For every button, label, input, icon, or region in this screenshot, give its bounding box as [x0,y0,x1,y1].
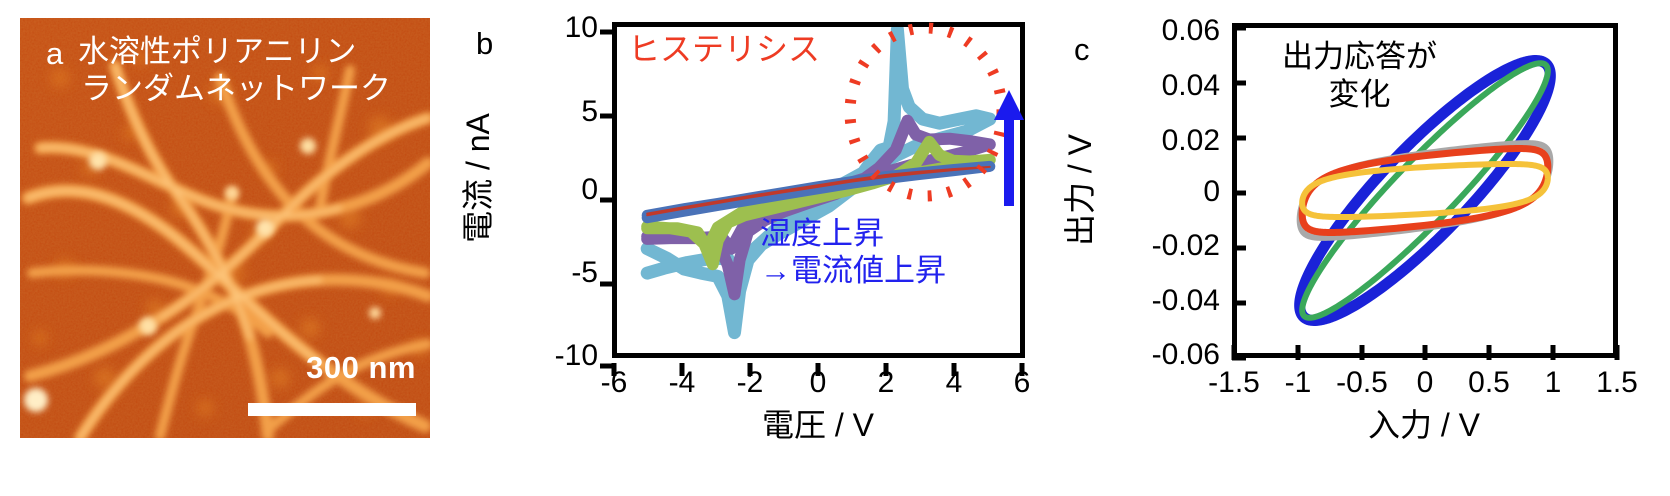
panel-c-annotation: 出力応答が 変化 [1282,38,1437,114]
panel-b-x-axis-title: 電圧 / V [762,400,874,446]
panel-b-y-axis-title: 電流 / nA [453,113,499,243]
panel-c-ytick-m0p04: -0.04 [1094,284,1220,318]
panel-c-annotation-line2: 変化 [1282,76,1437,114]
panel-a-title-line2: ランダムネットワーク [78,71,394,108]
figure-root: a 水溶性ポリアニリン ランダムネットワーク 300 nm b 10 5 0 -… [0,0,1670,496]
panel-b-ytick-m5: -5 [512,256,598,290]
panel-b-humidity-line1: 湿度上昇 [760,216,946,253]
scalebar-label: 300 nm [306,350,416,386]
panel-b-letter: b [476,26,493,62]
panel-b-ytick-0: 0 [512,173,598,207]
hysteresis-highlight-circle [838,20,1018,210]
panel-c-letter: c [1074,32,1090,68]
scalebar-line [248,403,416,416]
panel-b-humidity-line2: →電流値上昇 [760,253,946,290]
panel-a-title: 水溶性ポリアニリン ランダムネットワーク [78,34,428,107]
panel-c-ytick-0p04: 0.04 [1094,69,1220,103]
panel-b-hysteresis-annotation: ヒステリシス [628,24,820,70]
panel-c-ytick-m0p06: -0.06 [1094,338,1220,372]
panel-c-ytick-m0p02: -0.02 [1094,229,1220,263]
panel-b-ytick-5: 5 [512,95,598,129]
panel-b-humidity-annotation: 湿度上昇 →電流値上昇 [760,216,946,289]
panel-a-title-line1: 水溶性ポリアニリン [78,34,356,69]
panel-a-afm-image: a 水溶性ポリアニリン ランダムネットワーク 300 nm [20,18,430,438]
panel-c-x-axis-title: 入力 / V [1368,400,1480,446]
panel-a-letter: a [46,36,64,72]
panel-b-ytick-10: 10 [512,11,598,45]
panel-c-ytick-0: 0 [1094,175,1220,209]
panel-c-ytick-0p02: 0.02 [1094,124,1220,158]
panel-c-ytick-0p06: 0.06 [1094,14,1220,48]
humidity-increase-arrow-icon [992,88,1026,206]
panel-c-annotation-line1: 出力応答が [1282,39,1437,74]
panel-c-y-axis-title: 出力 / V [1055,134,1101,246]
panel-b-ytick-m10: -10 [512,339,598,373]
